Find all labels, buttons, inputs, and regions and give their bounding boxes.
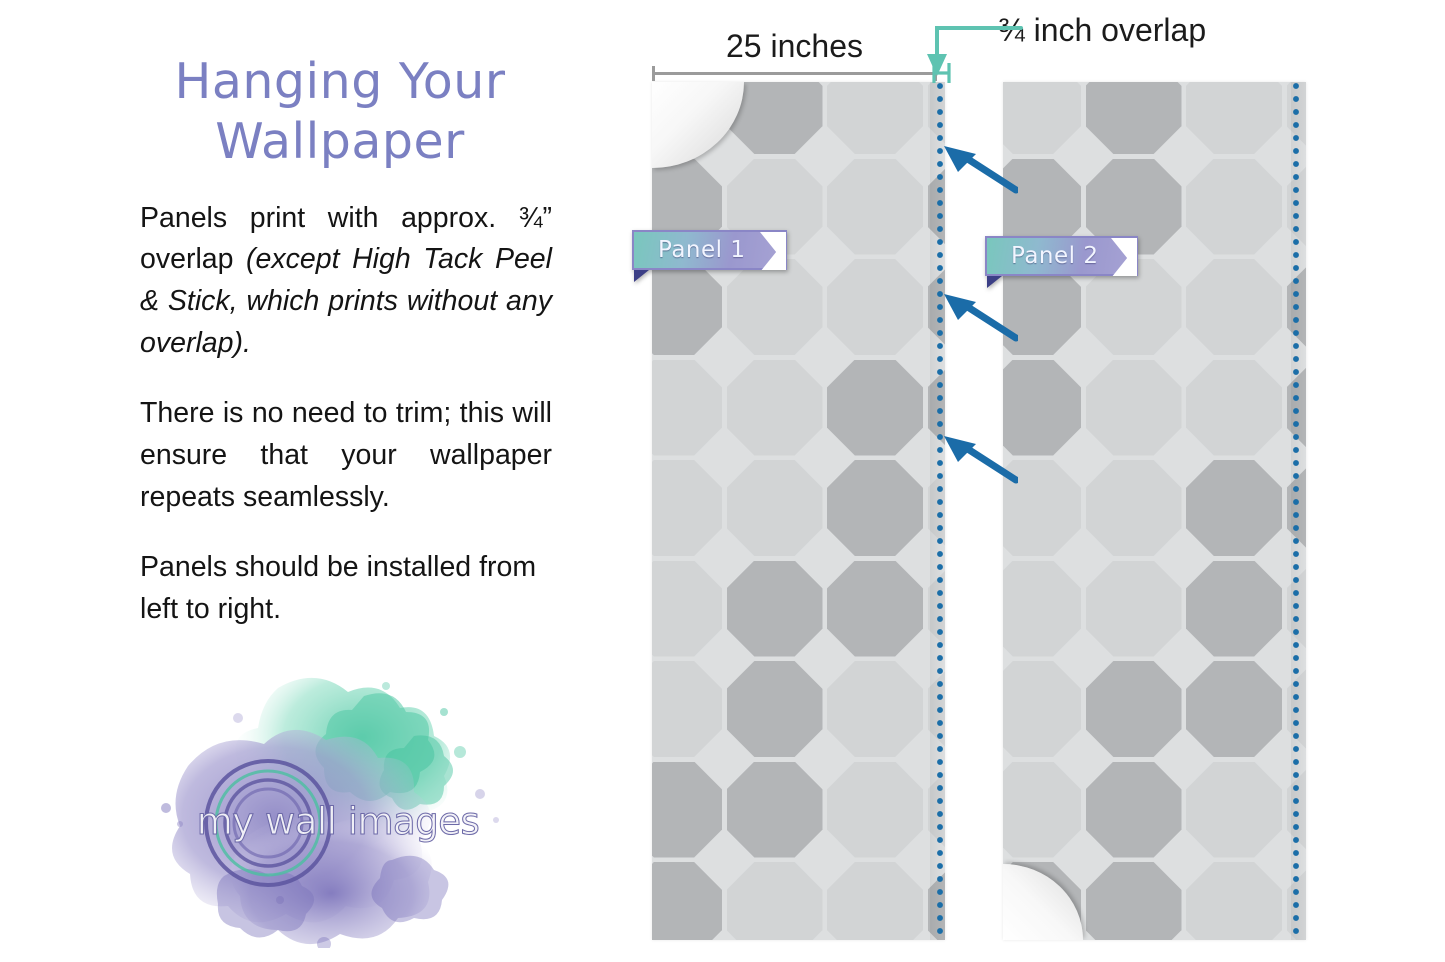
octagon-tile	[727, 460, 823, 556]
octagon-tile	[652, 561, 722, 657]
octagon-tile	[727, 862, 823, 940]
octagon-pattern	[1003, 82, 1306, 940]
arrow-up-left-icon	[938, 430, 1018, 484]
octagon-tile	[1186, 259, 1282, 355]
octagon-tile	[827, 661, 923, 757]
octagon-tile	[827, 862, 923, 940]
ribbon-notch	[760, 232, 786, 272]
arrow-up-left-icon	[938, 288, 1018, 342]
overlap-seam-line-2	[1292, 82, 1300, 940]
overlap-seam-line-1	[936, 82, 944, 940]
octagon-tile	[1086, 661, 1182, 757]
octagon-tile	[1186, 762, 1282, 858]
octagon-tile	[827, 360, 923, 456]
octagon-tile	[727, 661, 823, 757]
octagon-tile	[1186, 460, 1282, 556]
panel-2-ribbon: Panel 2	[985, 236, 1138, 276]
octagon-tile	[652, 460, 722, 556]
octagon-tile	[1186, 159, 1282, 255]
octagon-tile	[1003, 762, 1081, 858]
octagon-tile	[652, 360, 722, 456]
instructions-column: Hanging Your Wallpaper Panels print with…	[140, 52, 560, 659]
octagon-tile	[827, 762, 923, 858]
octagon-tile	[1186, 82, 1282, 154]
dimension-line-icon	[652, 66, 937, 80]
octagon-tile	[827, 561, 923, 657]
octagon-tile	[827, 159, 923, 255]
octagon-tile	[1003, 661, 1081, 757]
octagon-tile	[652, 762, 722, 858]
octagon-tile	[827, 259, 923, 355]
octagon-tile	[1186, 661, 1282, 757]
wallpaper-panel-2	[1003, 82, 1306, 940]
width-measure-label: 25 inches	[652, 28, 937, 65]
instruction-graphic: Hanging Your Wallpaper Panels print with…	[0, 0, 1445, 962]
octagon-tile	[827, 82, 923, 154]
octagon-tile	[1186, 360, 1282, 456]
ribbon-body: Panel 1	[632, 230, 787, 270]
panel-1-label: Panel 1	[634, 237, 746, 263]
page-title: Hanging Your Wallpaper	[140, 52, 560, 172]
octagon-tile	[1186, 561, 1282, 657]
octagon-pattern	[652, 82, 945, 940]
ribbon-body: Panel 2	[985, 236, 1138, 276]
octagon-tile	[1086, 862, 1182, 940]
brand-logo: my wall images	[128, 648, 548, 948]
dimension-cap-left	[652, 66, 655, 81]
octagon-tile	[652, 862, 722, 940]
paragraph-no-trim: There is no need to trim; this will ensu…	[140, 393, 552, 519]
octagon-tile	[1003, 561, 1081, 657]
octagon-tile	[1086, 360, 1182, 456]
octagon-tile	[652, 259, 722, 355]
arrow-up-left-icon	[938, 140, 1018, 194]
wallpaper-panel-1	[652, 82, 945, 940]
octagon-tile	[652, 661, 722, 757]
ribbon-notch	[1111, 238, 1137, 278]
octagon-tile	[727, 762, 823, 858]
octagon-tile	[727, 561, 823, 657]
octagon-tile	[1086, 460, 1182, 556]
watercolor-splash-icon	[128, 648, 548, 948]
paragraph-install-order: Panels should be installed from left to …	[140, 547, 552, 631]
paragraph-overlap: Panels print with approx. ¾” overlap (ex…	[140, 198, 552, 366]
octagon-tile	[1086, 561, 1182, 657]
octagon-tile	[727, 259, 823, 355]
panel-1-ribbon: Panel 1	[632, 230, 787, 270]
octagon-tile	[827, 460, 923, 556]
octagon-tile	[727, 360, 823, 456]
octagon-tile	[1186, 862, 1282, 940]
overlap-bracket-icon	[931, 62, 953, 84]
octagon-tile	[1086, 762, 1182, 858]
panel-2-label: Panel 2	[987, 243, 1099, 269]
octagon-tile	[1086, 82, 1182, 154]
dimension-bar	[652, 72, 937, 75]
